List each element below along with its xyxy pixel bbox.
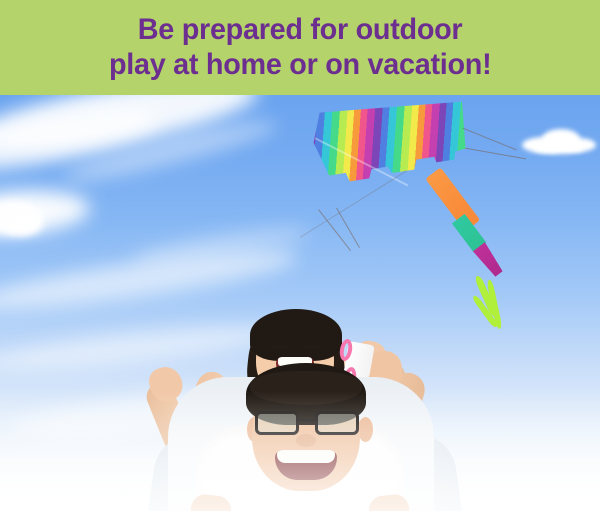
child-eye-left [271, 345, 288, 349]
glasses-lens-left [255, 411, 299, 435]
headline-line-2: play at home or on vacation! [109, 50, 491, 80]
man-ear-right [358, 417, 373, 442]
man-hair-highlight [250, 371, 362, 405]
headline-banner: Be prepared for outdoor play at home or … [0, 0, 600, 95]
glasses-bridge [299, 419, 315, 422]
people-group [0, 95, 600, 511]
child-hair [250, 309, 342, 361]
glasses-lens-right [315, 411, 359, 435]
man-nose [296, 434, 316, 447]
man-teeth [277, 450, 335, 463]
promo-image: Be prepared for outdoor play at home or … [0, 0, 600, 511]
glasses-icon [255, 411, 359, 435]
hero-photo: Father laughing with a young child on hi… [0, 95, 600, 511]
child-eye-right [305, 345, 322, 349]
headline-line-1: Be prepared for outdoor [138, 15, 463, 45]
man-mouth [275, 450, 337, 480]
